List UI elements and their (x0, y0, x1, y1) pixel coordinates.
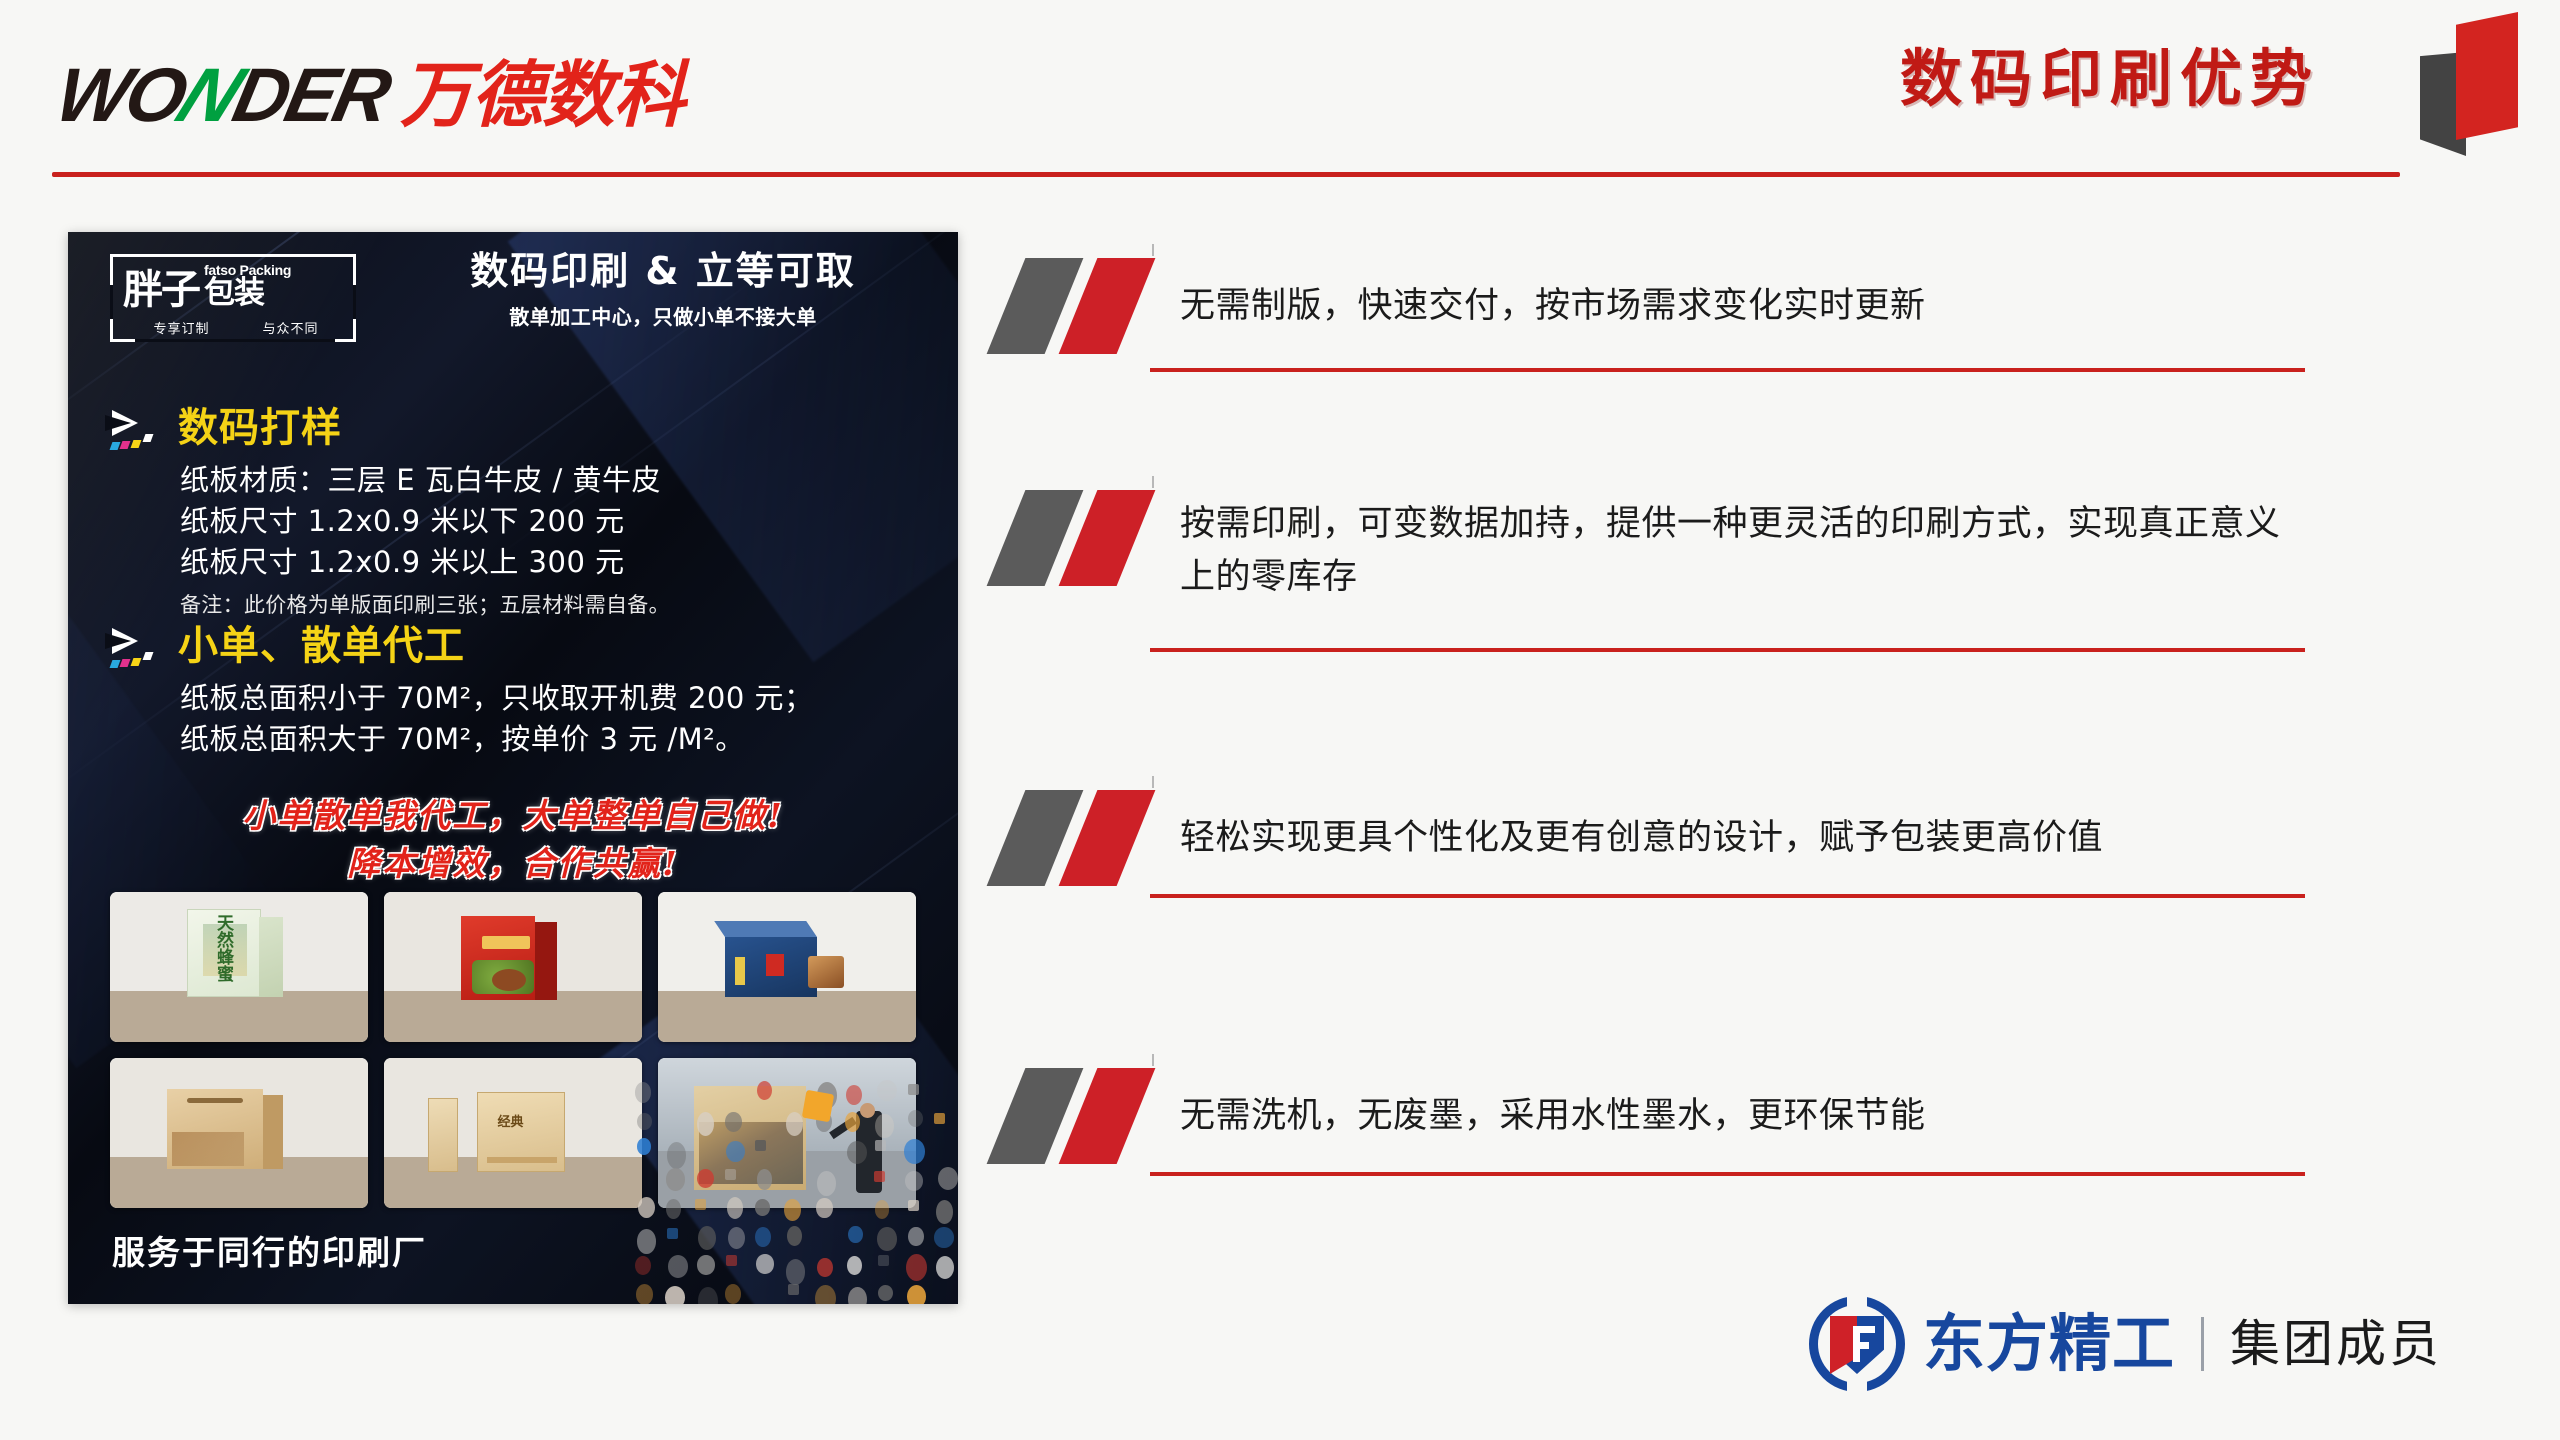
box-side-face (263, 1095, 283, 1169)
poster-section-header: 小单、散单代工 (108, 622, 918, 670)
decorative-highlight-square (802, 1090, 834, 1122)
poster-section-line: 纸板材质：三层 E 瓦白牛皮 / 黄牛皮 (180, 460, 918, 501)
logo-frame-cut-bottom (135, 339, 335, 342)
bullet-text: 无需制版，快速交付，按市场需求变化实时更新 (1180, 258, 2340, 354)
decorative-dot (906, 1254, 927, 1281)
decorative-dot (697, 1112, 714, 1136)
decorative-dot (936, 1256, 954, 1279)
bullet-marker (1000, 790, 1158, 886)
decorative-dot (756, 1254, 774, 1273)
decorative-dot (848, 1287, 866, 1304)
decorative-dot (905, 1171, 923, 1191)
decorative-dot (665, 1286, 686, 1304)
box-top-face (714, 921, 817, 937)
decorative-dot (638, 1197, 655, 1219)
bullet-marker (1000, 1068, 1158, 1164)
poster-slogan-line-1: 小单散单我代工，大单整单自己做! (68, 792, 958, 840)
decorative-dot (635, 1082, 651, 1103)
logo-f-bar-top (1853, 1326, 1875, 1333)
decorative-dot (938, 1167, 958, 1190)
page-title: 数码印刷优势 (1900, 48, 2320, 110)
decorative-dot (755, 1140, 766, 1151)
arrow-notch-shape (105, 633, 131, 649)
box-side-face (259, 917, 283, 997)
decorative-dot-pattern (628, 1074, 958, 1304)
decorative-dot (936, 1200, 954, 1224)
arrow-dot-white (143, 434, 154, 442)
decorative-dot (907, 1285, 926, 1304)
brand-logo: WONDER 万德数科 (58, 48, 684, 128)
decorative-dot (725, 1112, 742, 1131)
bullet-text: 轻松实现更具个性化及更有创意的设计，赋予包装更高价值 (1180, 790, 2340, 886)
bullet-underline (1150, 368, 2305, 372)
advantages-list: 无需制版，快速交付，按市场需求变化实时更新 按需印刷，可变数据加持，提供一种更灵… (1000, 258, 2340, 1288)
decorative-dot (817, 1258, 832, 1277)
bullet-tick (1152, 244, 1154, 256)
decorative-dot (725, 1284, 741, 1303)
bullet-text: 无需洗机，无废墨，采用水性墨水，更环保节能 (1180, 1068, 2340, 1164)
photo-floor (658, 991, 916, 1042)
decorative-dot (698, 1226, 716, 1250)
bullet-marker (1000, 258, 1158, 354)
decorative-dot (667, 1228, 678, 1239)
decorative-dot (635, 1256, 651, 1275)
decorative-dot (666, 1199, 681, 1220)
chevron-arrow-icon (108, 404, 170, 452)
product-photo (110, 1058, 368, 1208)
box-gold-banner (482, 936, 530, 949)
fatso-logo-cn-big: 胖子 (123, 271, 199, 309)
poster-section-body: 纸板总面积小于 70M²，只收取开机费 200 元； 纸板总面积大于 70M²，… (180, 678, 918, 760)
decorative-dot (847, 1141, 867, 1164)
logo-frame-cut-right (353, 285, 356, 319)
decorative-dot (875, 1200, 890, 1219)
decorative-dot (908, 1084, 919, 1095)
decorative-dot (908, 1200, 919, 1211)
decorative-dot (878, 1255, 889, 1266)
fatso-logo-subline: 专享订制 与众不同 (127, 318, 345, 337)
footer-divider (2201, 1317, 2204, 1371)
decorative-dot (728, 1227, 745, 1249)
box-print-art (172, 1132, 244, 1166)
dongfang-jinggong-icon (1809, 1296, 1905, 1392)
arrow-dot-yellow (131, 658, 142, 666)
decorative-dot (845, 1112, 860, 1132)
fatso-logo-main: 胖子 fatso Packing 包装 (123, 263, 291, 309)
brand-logo-wo: WO (51, 63, 190, 128)
box-label-band (487, 1157, 557, 1163)
brand-logo-cn: 万德数科 (400, 63, 684, 128)
box-food-photo (808, 956, 844, 988)
product-photo (384, 892, 642, 1042)
decorative-dot (815, 1285, 836, 1304)
decorative-dot (697, 1169, 714, 1188)
poster-section-line: 纸板总面积小于 70M²，只收取开机费 200 元； (180, 678, 918, 719)
poster-header-band: 胖子 fatso Packing 包装 专享订制 与众不同 数码印刷 & 立等可… (68, 232, 958, 356)
bullet-tick (1152, 776, 1154, 788)
decorative-dot (934, 1113, 945, 1124)
bullet-underline (1150, 648, 2305, 652)
fatso-logo-sub-left: 专享订制 (153, 318, 209, 337)
poster-heading: 数码印刷 & 立等可取 散单加工中心，只做小单不接大单 (398, 250, 928, 330)
header-divider (52, 172, 2400, 177)
bullet-text: 按需印刷，可变数据加持，提供一种更灵活的印刷方式，实现真正意义上的零库存 (1180, 490, 2315, 603)
decorative-dot (817, 1171, 836, 1195)
decorative-dot (727, 1197, 743, 1219)
poster-slogan-line-2: 降本增效，合作共赢! (68, 840, 958, 888)
fatso-logo-sub-right: 与众不同 (262, 318, 318, 337)
poster-heading-main: 数码印刷 & 立等可取 (398, 250, 928, 294)
bullet-tick (1152, 476, 1154, 488)
logo-frame-cut-left (110, 285, 113, 319)
decorative-dot (908, 1227, 923, 1246)
poster-section-note: 备注：此价格为单版面印刷三张；五层材料需自备。 (180, 589, 918, 619)
company-name: 东方精工 (1923, 1313, 2175, 1375)
poster-section-title: 小单、散单代工 (178, 626, 465, 666)
decorative-dot (934, 1227, 953, 1248)
decorative-dot (698, 1287, 718, 1304)
decorative-dot (848, 1226, 862, 1243)
bullet-underline (1150, 894, 2305, 898)
decorative-dot (784, 1199, 801, 1221)
list-item: 无需洗机，无废墨，采用水性墨水，更环保节能 (1000, 1068, 2340, 1288)
decorative-dot (878, 1285, 893, 1301)
promo-poster-image: 胖子 fatso Packing 包装 专享订制 与众不同 数码印刷 & 立等可… (68, 232, 958, 1304)
member-label: 集团成员 (2230, 1319, 2442, 1369)
decorative-dot (668, 1255, 689, 1278)
brand-logo-wonder: WONDER (58, 63, 386, 128)
fatso-logo-right: fatso Packing 包装 (204, 263, 291, 309)
decorative-dot (755, 1227, 771, 1248)
poster-section-line: 纸板尺寸 1.2x0.9 米以上 300 元 (180, 542, 918, 583)
decorative-dot (786, 1259, 806, 1285)
fatso-packing-logo: 胖子 fatso Packing 包装 专享订制 与众不同 (110, 254, 356, 342)
product-photo: 天然蜂蜜 (110, 892, 368, 1042)
arrow-notch-shape (105, 415, 131, 431)
decorative-dot (666, 1168, 685, 1190)
decorative-dot (637, 1138, 651, 1155)
decorative-dot (875, 1140, 886, 1151)
brand-logo-der: DER (228, 63, 393, 128)
logo-f-bar-mid (1853, 1342, 1869, 1349)
logo-ring-gap-bottom (1847, 1379, 1867, 1395)
arrow-dot-yellow (131, 440, 142, 448)
poster-section-small-order-oem: 小单、散单代工 纸板总面积小于 70M²，只收取开机费 200 元； 纸板总面积… (108, 622, 918, 760)
decorative-dot (786, 1112, 803, 1136)
decorative-dot (667, 1142, 687, 1169)
decorative-dot (695, 1199, 706, 1210)
decorative-dot (788, 1284, 799, 1295)
box-red-title-block (766, 954, 784, 976)
decorative-dot (755, 1199, 770, 1215)
list-item: 无需制版，快速交付，按市场需求变化实时更新 (1000, 258, 2340, 490)
logo-ring-gap-top (1847, 1293, 1867, 1309)
box-label-text: 经典 (498, 1111, 524, 1130)
decorative-dot (908, 1110, 923, 1127)
product-photo: 经典 (384, 1058, 642, 1208)
decorative-dot (846, 1085, 862, 1105)
decorative-dot (757, 1081, 772, 1100)
poster-section-title: 数码打样 (178, 408, 342, 448)
page-header: WONDER 万德数科 数码印刷优势 (0, 0, 2560, 175)
decorative-dot (877, 1227, 897, 1250)
poster-section-line: 纸板总面积大于 70M²，按单价 3 元 /M²。 (180, 719, 918, 760)
poster-heading-sub: 散单加工中心，只做小单不接大单 (398, 301, 928, 330)
decorative-dot (725, 1169, 736, 1180)
box-yellow-stripe (735, 957, 745, 985)
list-item: 轻松实现更具个性化及更有创意的设计，赋予包装更高价值 (1000, 790, 2340, 1068)
photo-floor (110, 991, 368, 1042)
decorative-dot (875, 1114, 893, 1139)
poster-section-line: 纸板尺寸 1.2x0.9 米以下 200 元 (180, 501, 918, 542)
chevron-arrow-icon (108, 622, 170, 670)
list-item: 按需印刷，可变数据加持，提供一种更灵活的印刷方式，实现真正意义上的零库存 (1000, 490, 2340, 790)
decorative-dot (697, 1255, 715, 1275)
decorative-dot (637, 1113, 652, 1130)
arrow-dot-white (143, 652, 154, 660)
decorative-dot (726, 1255, 737, 1266)
decorative-dot (877, 1080, 897, 1101)
box-side-face (535, 922, 557, 1000)
decorative-dot (816, 1198, 832, 1218)
decorative-dot (757, 1169, 772, 1189)
decorative-dot (787, 1226, 802, 1246)
decorative-dot (726, 1141, 745, 1162)
bullet-marker (1000, 490, 1158, 586)
arrow-dot-magenta (120, 659, 131, 667)
poster-section-body: 纸板材质：三层 E 瓦白牛皮 / 黄牛皮 纸板尺寸 1.2x0.9 米以下 20… (180, 460, 918, 619)
decorative-dot (847, 1256, 862, 1276)
decorative-dot (904, 1139, 924, 1164)
fatso-logo-cn-second: 包装 (204, 278, 291, 309)
decorative-dot (637, 1229, 656, 1253)
arrow-dot-magenta (120, 441, 131, 449)
box-handle-slot (187, 1098, 243, 1103)
corner-mark-red-shape (2456, 12, 2518, 140)
product-photo (658, 892, 916, 1042)
decorative-dot (874, 1171, 885, 1182)
box-small-carton (428, 1098, 458, 1172)
bullet-underline (1150, 1172, 2305, 1176)
corner-parallelogram-icon (2420, 8, 2538, 168)
decorative-dot (636, 1284, 653, 1304)
poster-slogan: 小单散单我代工，大单整单自己做! 降本增效，合作共赢! (68, 792, 958, 888)
poster-section-header: 数码打样 (108, 404, 918, 452)
group-member-logo: 东方精工 集团成员 (1809, 1296, 2442, 1392)
box-label-text: 天然蜂蜜 (213, 914, 231, 982)
bullet-tick (1152, 1054, 1154, 1066)
poster-section-digital-proofing: 数码打样 纸板材质：三层 E 瓦白牛皮 / 黄牛皮 纸板尺寸 1.2x0.9 米… (108, 404, 918, 619)
poster-footer-text: 服务于同行的印刷厂 (112, 1226, 427, 1274)
